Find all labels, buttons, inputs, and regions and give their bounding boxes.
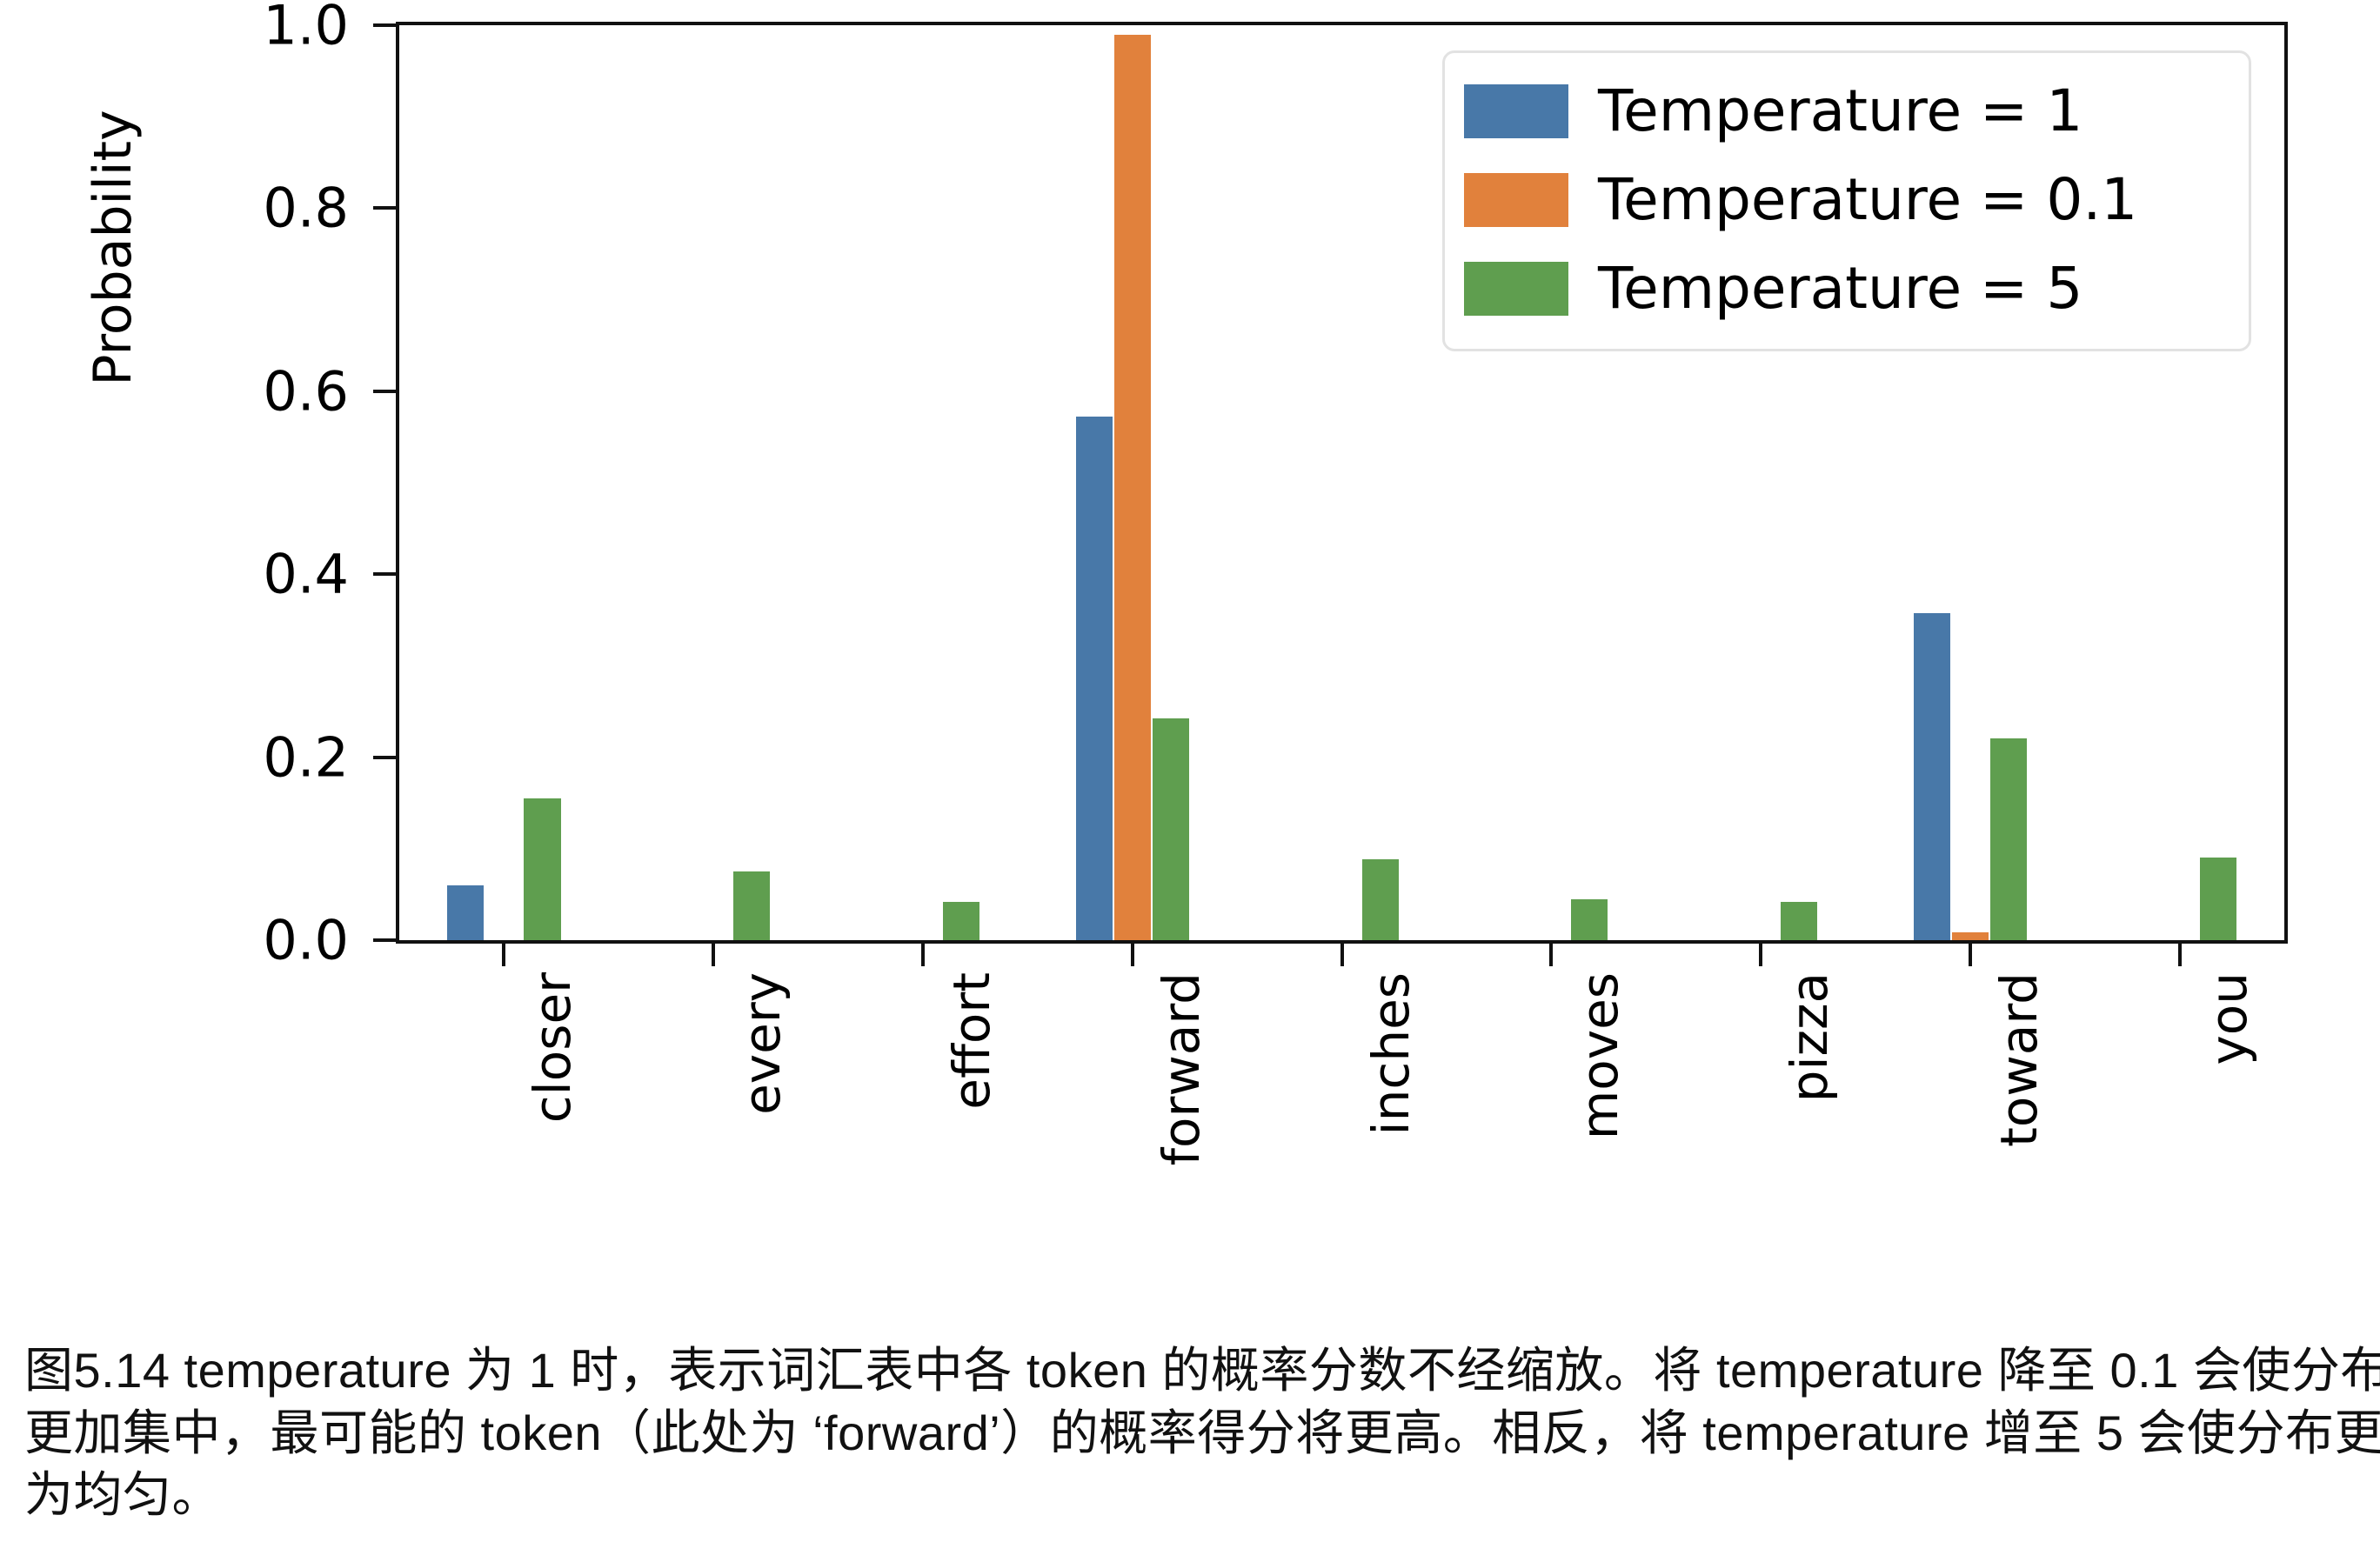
x-tick-label: pizza: [1780, 972, 1839, 1102]
x-tick-label: effort: [942, 972, 1001, 1110]
y-tick-mark: [373, 206, 396, 210]
x-tick-label: forward: [1152, 972, 1211, 1165]
y-tick-mark: [373, 390, 396, 393]
y-tick-mark: [373, 23, 396, 27]
x-tick-mark: [1759, 944, 1762, 966]
y-tick-mark: [373, 572, 396, 576]
y-tick-label: 1.0: [263, 0, 349, 57]
bar: [1990, 738, 2027, 940]
y-tick-label: 0.6: [263, 359, 349, 423]
x-tick-label: moves: [1570, 972, 1629, 1139]
x-tick-label: toward: [1989, 972, 2049, 1147]
legend-item: Temperature = 1: [1464, 67, 2230, 156]
figure-caption: 图5.14 temperature 为 1 时，表示词汇表中各 token 的概…: [24, 1339, 2364, 1526]
bar: [1781, 902, 1817, 940]
x-tick-label: every: [732, 972, 792, 1115]
y-tick-label: 0.2: [263, 725, 349, 789]
bar: [2200, 858, 2236, 940]
legend-swatch-temperature-5: [1464, 262, 1568, 316]
bar: [1114, 35, 1151, 940]
x-tick-mark: [2178, 944, 2182, 966]
bar-chart-figure: Probability 0.00.20.40.60.81.0 closereve…: [0, 0, 2380, 1305]
bar: [1362, 859, 1399, 940]
x-tick-mark: [1969, 944, 1972, 966]
bar: [1914, 613, 1950, 940]
x-tick-label: closer: [523, 972, 582, 1123]
bar: [733, 871, 770, 940]
legend-swatch-temperature-1: [1464, 84, 1568, 138]
legend-swatch-temperature-0-1: [1464, 173, 1568, 227]
y-tick-label: 0.8: [263, 177, 349, 240]
y-tick-mark: [373, 938, 396, 942]
legend-label-temperature-0-1: Temperature = 0.1: [1598, 171, 2137, 229]
bar: [1571, 899, 1608, 940]
bar: [447, 885, 484, 940]
legend-label-temperature-1: Temperature = 1: [1598, 83, 2082, 140]
y-tick-label: 0.0: [263, 909, 349, 972]
chart-legend: Temperature = 1 Temperature = 0.1 Temper…: [1442, 50, 2251, 351]
x-tick-mark: [712, 944, 715, 966]
x-tick-mark: [921, 944, 925, 966]
x-tick-mark: [502, 944, 505, 966]
y-axis-label: Probability: [83, 22, 144, 474]
bar: [524, 798, 560, 940]
x-tick-mark: [1340, 944, 1344, 966]
caption-line-2: 更加集中，最可能的 token（此处为 ‘forward’）的概率得分将更高。相…: [24, 1402, 2364, 1465]
bar: [943, 902, 979, 940]
x-tick-mark: [1131, 944, 1134, 966]
y-tick-label: 0.4: [263, 543, 349, 606]
y-tick-mark: [373, 756, 396, 759]
legend-item: Temperature = 5: [1464, 244, 2230, 333]
x-tick-label: inches: [1361, 972, 1421, 1135]
legend-label-temperature-5: Temperature = 5: [1598, 260, 2082, 317]
bar: [1076, 417, 1113, 940]
figure-page: Probability 0.00.20.40.60.81.0 closereve…: [0, 0, 2380, 1562]
bar: [1153, 718, 1189, 940]
caption-line-3: 为均匀。: [24, 1464, 2364, 1526]
caption-line-1: 图5.14 temperature 为 1 时，表示词汇表中各 token 的概…: [24, 1339, 2364, 1402]
legend-item: Temperature = 0.1: [1464, 156, 2230, 244]
x-tick-mark: [1549, 944, 1553, 966]
x-tick-label: you: [2199, 972, 2258, 1065]
bar: [1952, 932, 1989, 940]
